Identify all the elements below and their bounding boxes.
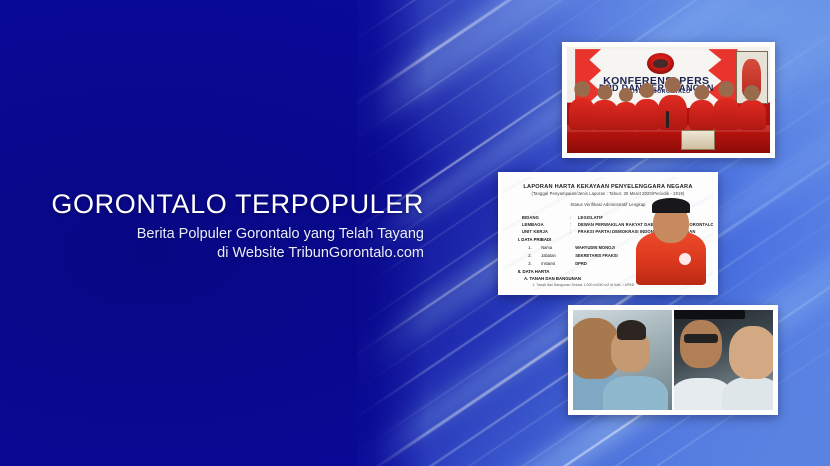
field-value: LEGISLATIF xyxy=(578,215,603,220)
document-field-row: BIDANG : LEGISLATIF xyxy=(522,215,603,220)
document-section-personal: I. DATA PRIBADI xyxy=(518,237,552,242)
left-person-2-hair xyxy=(617,320,647,340)
censor-bar xyxy=(674,310,745,319)
field-colon: : xyxy=(570,222,574,227)
photo-card-lhkpn-document[interactable]: LAPORAN HARTA KEKAYAAN PENYELENGGARA NEG… xyxy=(498,172,718,295)
photo-card-video-collage[interactable] xyxy=(568,305,778,415)
row-key: Nama xyxy=(541,245,571,250)
video-collage-scene xyxy=(573,310,773,410)
photo-lhkpn-document: LAPORAN HARTA KEKAYAAN PENYELENGGARA NEG… xyxy=(503,177,713,290)
field-colon: : xyxy=(570,215,574,220)
personal-row: 2. Jabatan SEKRETARIS FRAKSI xyxy=(528,253,617,258)
person-6 xyxy=(713,98,739,130)
left-person-2-body xyxy=(603,376,668,410)
row-key: Instansi xyxy=(541,261,571,266)
headline-block: GORONTALO TERPOPULER Berita Polpuler Gor… xyxy=(0,188,424,263)
person-5 xyxy=(689,100,715,130)
field-colon: : xyxy=(570,229,574,234)
field-key: UNIT KERJA xyxy=(522,229,566,234)
right-person-2-body xyxy=(722,377,773,411)
personal-row: 1. Nama WAHYUDIN MONOJI xyxy=(528,245,615,250)
document-portrait-photo xyxy=(633,193,709,286)
person-speaker xyxy=(658,95,686,130)
slide-canvas: GORONTALO TERPOPULER Berita Polpuler Gor… xyxy=(0,0,830,466)
row-value: DPRD xyxy=(575,261,587,266)
collage-pane-right xyxy=(672,310,773,410)
person-7 xyxy=(738,100,766,130)
row-number: 1. xyxy=(528,245,537,250)
field-key: LEMBAGA xyxy=(522,222,566,227)
photo-video-collage xyxy=(573,310,773,410)
portrait-songkok-cap xyxy=(652,198,690,213)
right-person-2-face xyxy=(729,326,773,379)
subtitle-line-1: Berita Polpuler Gorontalo yang Telah Tay… xyxy=(0,225,424,244)
row-value: SEKRETARIS FRAKSI xyxy=(575,253,617,258)
photo-card-press-conference[interactable]: KONFERENSI PERS DPD DAN PER JUANGAN PROV… xyxy=(562,42,775,158)
personal-row: 3. Instansi DPRD xyxy=(528,261,587,266)
document-page: LAPORAN HARTA KEKAYAAN PENYELENGGARA NEG… xyxy=(503,177,713,290)
photo-press-conference: KONFERENSI PERS DPD DAN PER JUANGAN PROV… xyxy=(567,47,770,153)
portrait-shirt-logo-icon xyxy=(679,253,691,265)
row-key: Jabatan xyxy=(541,253,571,258)
pdip-bull-logo-icon xyxy=(647,53,675,74)
document-fineprint: 1. Tanah dan Bangunan Seluas 1.000 m2/50… xyxy=(532,283,634,287)
row-value: WAHYUDIN MONOJI xyxy=(575,245,615,250)
subtitle-line-2: di Website TribunGorontalo.com xyxy=(0,244,424,263)
table-nameplate xyxy=(681,130,715,150)
press-conference-scene: KONFERENSI PERS DPD DAN PER JUANGAN PROV… xyxy=(567,47,770,153)
field-key: BIDANG xyxy=(522,215,566,220)
document-title: LAPORAN HARTA KEKAYAAN PENYELENGGARA NEG… xyxy=(520,184,696,190)
document-section-assets: II. DATA HARTA xyxy=(518,269,550,274)
person-4 xyxy=(634,99,660,130)
page-title: GORONTALO TERPOPULER xyxy=(0,188,424,220)
right-person-face xyxy=(680,320,722,368)
eyeglasses-icon xyxy=(684,334,718,343)
document-subsection-land: A. TANAH DAN BANGUNAN xyxy=(524,276,581,281)
row-number: 3. xyxy=(528,261,537,266)
collage-pane-left xyxy=(573,310,672,410)
row-number: 2. xyxy=(528,253,537,258)
